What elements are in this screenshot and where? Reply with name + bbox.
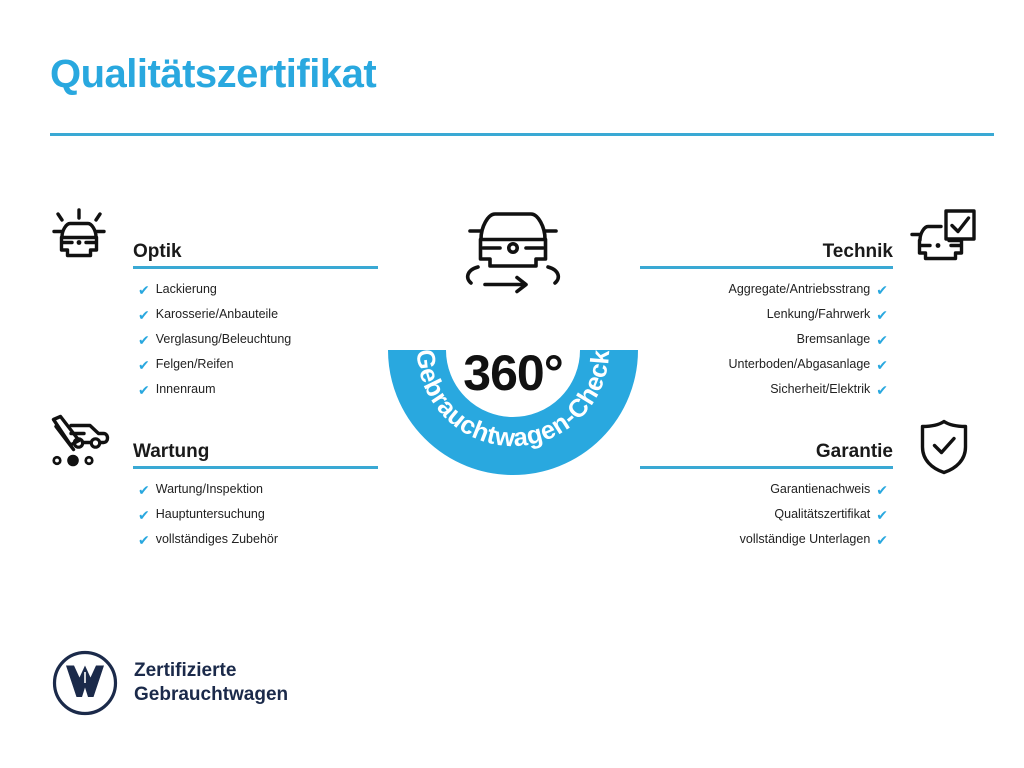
section-technik-header: Technik — [640, 235, 893, 269]
list-item: ✔ Innenraum — [138, 383, 378, 397]
check-icon: ✔ — [876, 283, 888, 297]
list-item-label: Garantienachweis — [770, 483, 870, 496]
list-item-label: Wartung/Inspektion — [156, 483, 263, 496]
check-icon: ✔ — [138, 483, 150, 497]
section-optik: Optik ✔ Lackierung ✔ Karosserie/Anbautei… — [133, 235, 378, 408]
section-wartung-title: Wartung — [133, 441, 209, 463]
shield-check-icon — [918, 418, 970, 481]
check-icon: ✔ — [876, 533, 888, 547]
list-item-label: Lenkung/Fahrwerk — [767, 308, 871, 321]
check-icon: ✔ — [138, 508, 150, 522]
list-item: ✔ Verglasung/Beleuchtung — [138, 333, 378, 347]
list-item: Aggregate/Antriebsstrang ✔ — [640, 283, 888, 297]
badge-360-gebrauchtwagen-check: Gebrauchtwagen-Check 360° — [382, 196, 644, 496]
section-garantie-header: Garantie — [640, 435, 893, 469]
check-icon: ✔ — [138, 333, 150, 347]
section-wartung-divider — [133, 466, 378, 469]
list-item-label: vollständige Unterlagen — [740, 533, 871, 546]
list-item: ✔ vollständiges Zubehör — [138, 533, 378, 547]
list-item: vollständige Unterlagen ✔ — [640, 533, 888, 547]
section-garantie-list: Garantienachweis ✔ Qualitätszertifikat ✔… — [640, 483, 893, 547]
section-optik-divider — [133, 266, 378, 269]
list-item: Sicherheit/Elektrik ✔ — [640, 383, 888, 397]
list-item-label: Hauptuntersuchung — [156, 508, 265, 521]
check-icon: ✔ — [876, 358, 888, 372]
list-item: ✔ Lackierung — [138, 283, 378, 297]
section-optik-list: ✔ Lackierung ✔ Karosserie/Anbauteile ✔ V… — [133, 283, 378, 397]
badge-center-label: 360° — [382, 344, 644, 402]
list-item-label: Felgen/Reifen — [156, 358, 234, 371]
check-icon: ✔ — [876, 308, 888, 322]
section-technik-list: Aggregate/Antriebsstrang ✔ Lenkung/Fahrw… — [640, 283, 893, 397]
list-item-label: Karosserie/Anbauteile — [156, 308, 278, 321]
check-icon: ✔ — [138, 383, 150, 397]
list-item: ✔ Hauptuntersuchung — [138, 508, 378, 522]
section-optik-header: Optik — [133, 235, 378, 269]
check-icon: ✔ — [876, 383, 888, 397]
list-item-label: Sicherheit/Elektrik — [770, 383, 870, 396]
certificate-page: Qualitätszertifikat Optik — [0, 0, 1024, 768]
list-item-label: Verglasung/Beleuchtung — [156, 333, 292, 346]
page-title: Qualitätszertifikat — [50, 52, 376, 97]
list-item-label: Unterboden/Abgasanlage — [728, 358, 870, 371]
section-wartung: Wartung ✔ Wartung/Inspektion ✔ Hauptunte… — [133, 435, 378, 558]
header-divider — [50, 133, 994, 136]
check-icon: ✔ — [876, 483, 888, 497]
section-wartung-list: ✔ Wartung/Inspektion ✔ Hauptuntersuchung… — [133, 483, 378, 547]
footer-line-2: Gebrauchtwagen — [134, 683, 288, 707]
section-wartung-header: Wartung — [133, 435, 378, 469]
section-garantie: Garantie Garantienachweis ✔ Qualitätszer… — [640, 435, 893, 558]
list-item-label: vollständiges Zubehör — [156, 533, 278, 546]
list-item: Lenkung/Fahrwerk ✔ — [640, 308, 888, 322]
list-item: Bremsanlage ✔ — [640, 333, 888, 347]
section-technik: Technik Aggregate/Antriebsstrang ✔ Lenku… — [640, 235, 893, 408]
list-item-label: Qualitätszertifikat — [774, 508, 870, 521]
vw-logo-icon — [52, 650, 118, 716]
list-item: ✔ Karosserie/Anbauteile — [138, 308, 378, 322]
list-item: Qualitätszertifikat ✔ — [640, 508, 888, 522]
list-item-label: Lackierung — [156, 283, 217, 296]
list-item-label: Aggregate/Antriebsstrang — [729, 283, 871, 296]
list-item: Unterboden/Abgasanlage ✔ — [640, 358, 888, 372]
footer-logo-block: Zertifizierte Gebrauchtwagen — [52, 650, 288, 716]
check-icon: ✔ — [876, 508, 888, 522]
section-optik-title: Optik — [133, 241, 182, 263]
section-technik-divider — [640, 266, 893, 269]
car-front-shine-icon — [48, 204, 110, 269]
list-item-label: Bremsanlage — [797, 333, 871, 346]
section-garantie-title: Garantie — [816, 441, 893, 463]
check-icon: ✔ — [138, 283, 150, 297]
check-icon: ✔ — [138, 308, 150, 322]
section-garantie-divider — [640, 466, 893, 469]
list-item: ✔ Felgen/Reifen — [138, 358, 378, 372]
footer-line-1: Zertifizierte — [134, 659, 288, 683]
list-item: Garantienachweis ✔ — [640, 483, 888, 497]
car-front-checkbox-icon — [908, 208, 978, 271]
list-item-label: Innenraum — [156, 383, 216, 396]
list-item: ✔ Wartung/Inspektion — [138, 483, 378, 497]
check-icon: ✔ — [876, 333, 888, 347]
check-icon: ✔ — [138, 533, 150, 547]
check-icon: ✔ — [138, 358, 150, 372]
footer-logo-text: Zertifizierte Gebrauchtwagen — [134, 659, 288, 708]
section-technik-title: Technik — [823, 241, 893, 263]
pen-car-service-icon — [46, 414, 112, 475]
